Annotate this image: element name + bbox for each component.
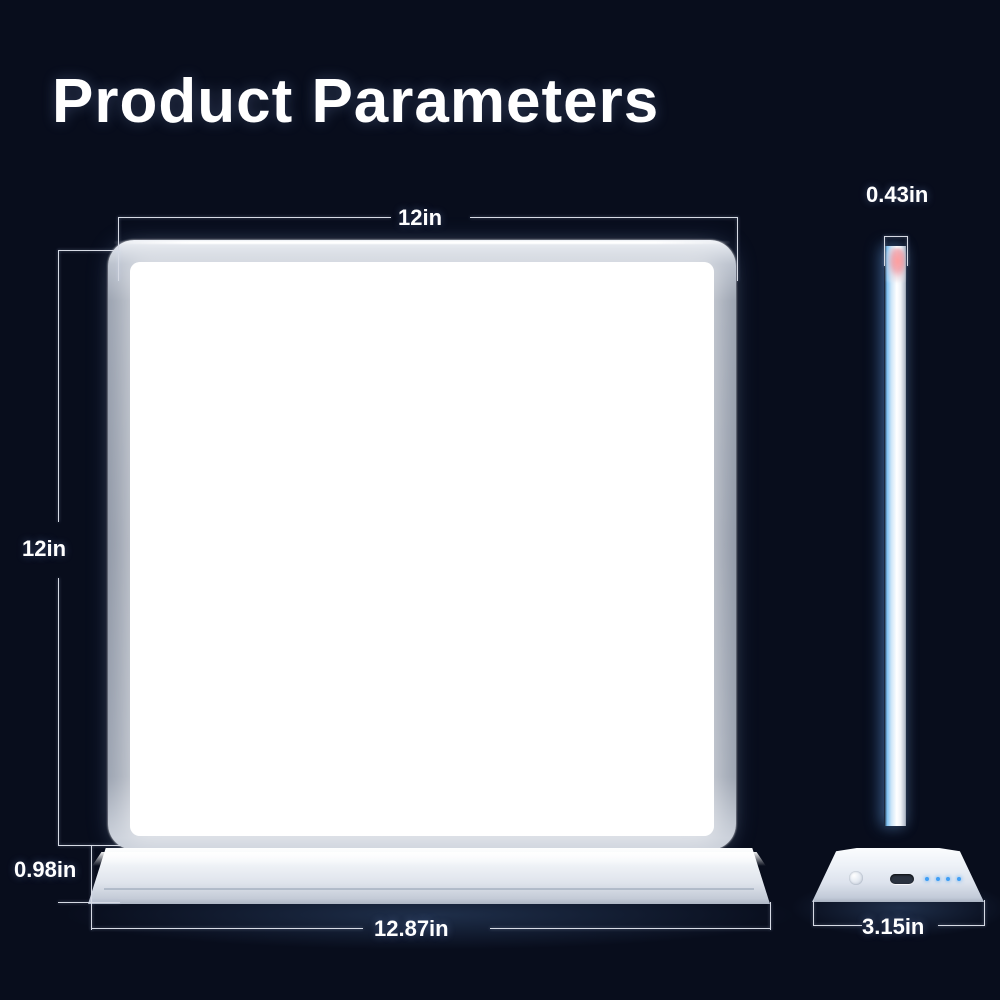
dimension-label-base-depth: 3.15in (862, 914, 924, 940)
top-width-tick-right (737, 217, 738, 281)
thickness-bracket-left (884, 236, 885, 266)
bottom-width-line-right (490, 928, 771, 929)
thickness-bracket-top (884, 236, 908, 237)
left-height-line-lower (58, 578, 59, 845)
led-dot-3 (946, 877, 950, 881)
top-width-line-left (118, 217, 391, 218)
front-view-panel-bezel (108, 240, 736, 850)
dimension-label-thickness: 0.43in (866, 182, 928, 208)
base-height-tick-bottom (58, 902, 120, 903)
bottom-width-tick-right (770, 902, 771, 930)
thickness-bracket-right (907, 236, 908, 266)
power-button-icon[interactable] (849, 871, 863, 885)
dimension-label-base-height: 0.98in (14, 857, 76, 883)
led-dot-2 (936, 877, 940, 881)
led-dot-1 (925, 877, 929, 881)
usb-c-port-icon (890, 874, 914, 884)
left-height-tick-top (58, 250, 120, 251)
base-height-line (91, 845, 92, 902)
base-depth-tick-right (984, 900, 985, 926)
bottom-width-tick-left (91, 902, 92, 930)
front-view-base (88, 848, 770, 904)
base-depth-line-right (938, 925, 985, 926)
battery-led-indicators (925, 875, 961, 882)
side-view-panel-profile (884, 246, 906, 826)
base-depth-line-left (813, 925, 862, 926)
side-view-panel-top-glow (886, 248, 905, 282)
dimension-label-bottom-width: 12.87in (374, 916, 449, 942)
left-height-line-upper (58, 250, 59, 522)
top-width-tick-left (118, 217, 119, 281)
led-dot-4 (957, 877, 961, 881)
front-view-light-surface (130, 262, 714, 836)
product-parameters-diagram: Product Parameters 12in 12in 0.98in 12.8… (0, 0, 1000, 1000)
page-title: Product Parameters (52, 66, 659, 137)
front-view-base-groove (104, 888, 754, 890)
base-depth-tick-left (813, 900, 814, 926)
dimension-label-top-width: 12in (398, 205, 442, 231)
bottom-width-line-left (91, 928, 363, 929)
top-width-line-right (470, 217, 738, 218)
dimension-label-left-height: 12in (22, 536, 66, 562)
base-height-tick-top (58, 845, 120, 846)
